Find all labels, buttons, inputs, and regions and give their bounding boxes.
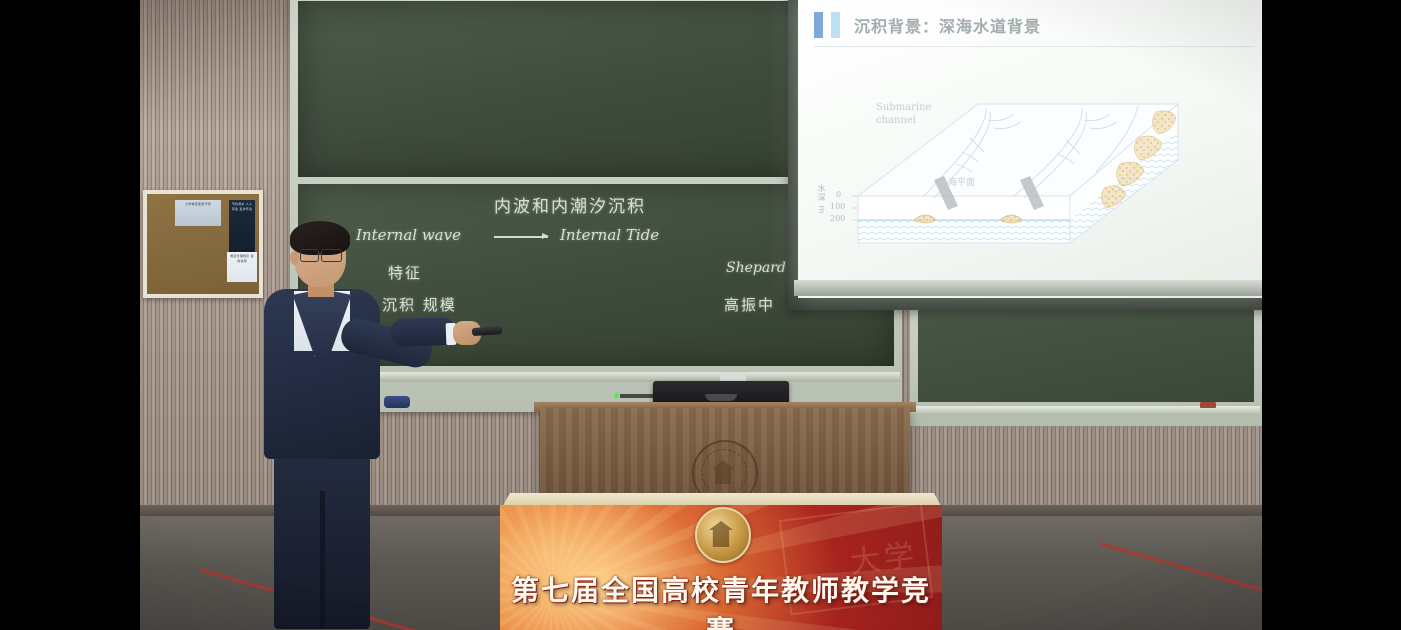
- chalk-heading: 内波和内潮汐沉积: [494, 192, 646, 217]
- banner-title: 第七届全国高校青年教师教学竞赛: [500, 569, 942, 630]
- slide-figure: Submarine channel 海平面 0 100 200 水深 m Gao…: [838, 68, 1238, 278]
- figure-axis-tick-100: 100: [830, 202, 845, 211]
- slide-title-bar: 沉积背景：深海水道背景: [814, 12, 1041, 38]
- chalk-arrow-icon: [494, 236, 548, 238]
- bulletin-poster-1-text: 大学教室使用守则: [175, 200, 221, 209]
- letterbox-bar-left: [0, 0, 140, 630]
- presenter-ear: [290, 251, 299, 265]
- chalk-name-gaozhenzhong: 高振中: [724, 294, 775, 315]
- presenter-leg-split: [320, 491, 325, 629]
- bulletin-board-cork: 大学教室使用守则 节约用水 人人有责 爱护环境 教室管理规定 使用说明: [147, 194, 259, 294]
- slide: 沉积背景：深海水道背景: [798, 0, 1262, 298]
- screenshot-root: 大学教室使用守则 节约用水 人人有责 爱护环境 教室管理规定 使用说明 内波和内…: [0, 0, 1401, 630]
- slide-title: 沉积背景：深海水道背景: [854, 13, 1041, 37]
- bulletin-poster-1: 大学教室使用守则: [175, 200, 221, 226]
- figure-axis-tick-0: 0: [836, 190, 841, 199]
- projection-screen-bottom-edge: [794, 280, 1262, 296]
- figure-axis-title: 水深 m: [816, 184, 827, 232]
- chalk-internal-tide: Internal Tide: [560, 226, 659, 244]
- glasses-bridge-icon: [317, 253, 322, 255]
- chalk-stick[interactable]: [1200, 402, 1216, 408]
- lecture-hall-scene: 大学教室使用守则 节约用水 人人有责 爱护环境 教室管理规定 使用说明 内波和内…: [140, 0, 1262, 630]
- slide-accent-bar-light: [831, 12, 840, 38]
- chalk-name-shepard: Shepard: [726, 260, 786, 276]
- glasses-right-lens-icon: [321, 249, 342, 262]
- figure-label-sea-level: 海平面: [948, 178, 975, 189]
- letterbox-bar-right: [1262, 0, 1401, 630]
- projection-screen: 沉积背景：深海水道背景: [798, 0, 1262, 298]
- slide-accent-bar-dark: [814, 12, 823, 38]
- competition-banner: 大学 第七届全国高校青年教师教学竞赛: [500, 493, 942, 630]
- floor-marking-line-right: [1100, 542, 1262, 600]
- glasses-left-lens-icon: [300, 249, 319, 262]
- figure-label-submarine-channel: Submarine channel: [876, 102, 936, 127]
- banner-table-top: [503, 493, 940, 505]
- bulletin-board: 大学教室使用守则 节约用水 人人有责 爱护环境 教室管理规定 使用说明: [143, 190, 263, 298]
- figure-axis-tick-200: 200: [830, 214, 845, 223]
- projection-screen-frame: 沉积背景：深海水道背景: [788, 0, 1262, 310]
- presenter: [250, 225, 430, 630]
- competition-crest-icon: [695, 507, 751, 563]
- submarine-channel-diagram: [838, 68, 1238, 278]
- university-crest-mark: [712, 460, 734, 484]
- slide-title-underline: [814, 46, 1254, 47]
- bulletin-poster-2-text: 节约用水 人人有责 爱护环境: [229, 200, 255, 213]
- status-led: [614, 393, 619, 398]
